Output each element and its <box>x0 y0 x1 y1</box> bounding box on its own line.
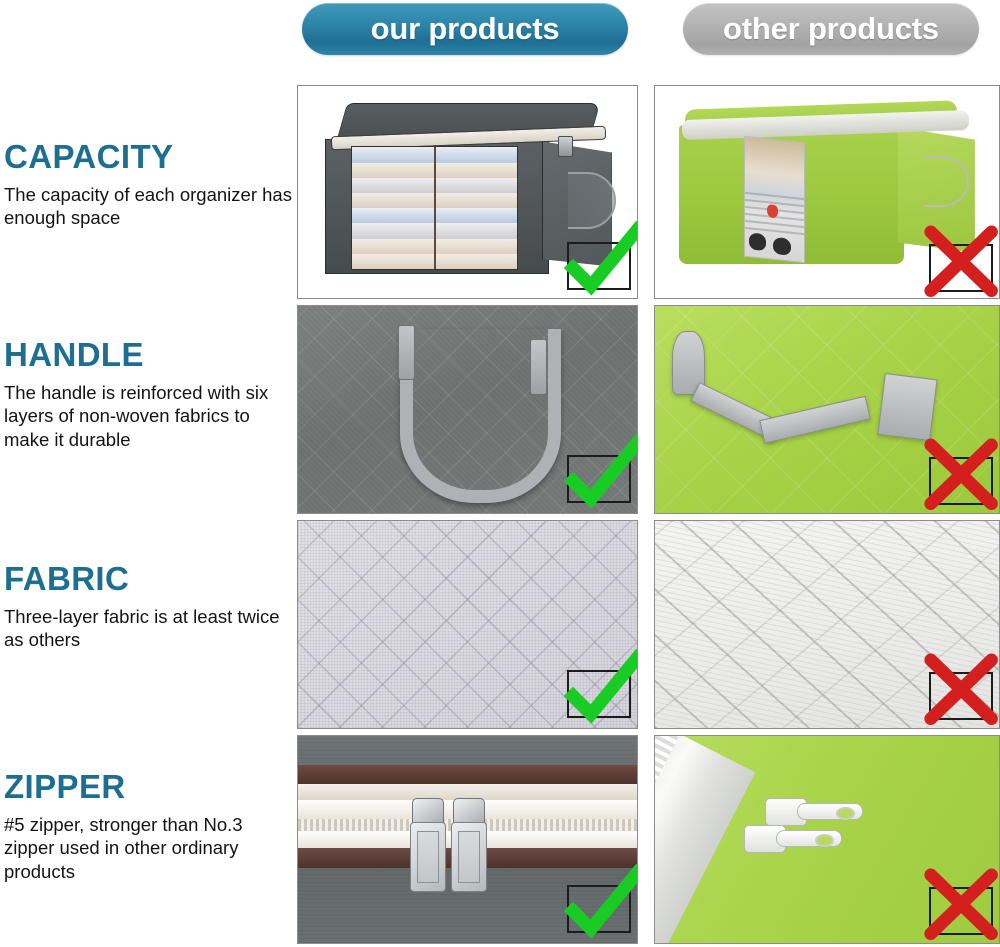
feature-description-fabric: Three-layer fabric is at least twice as … <box>4 605 296 652</box>
organizer-window <box>351 146 518 270</box>
status-badge-check <box>567 242 631 290</box>
header-pill-our-products: our products <box>302 3 628 55</box>
feature-title-capacity: CAPACITY <box>4 140 296 175</box>
feature-description-handle: The handle is reinforced with six layers… <box>4 381 296 452</box>
header-pill-other-products: other products <box>683 3 979 55</box>
green-bag-window <box>744 136 805 263</box>
status-badge-cross <box>929 457 993 505</box>
panel-fabric-others <box>654 520 1000 729</box>
feature-description-capacity: The capacity of each organizer has enoug… <box>4 183 296 230</box>
status-badge-check <box>567 670 631 718</box>
feature-handle-text: HANDLE The handle is reinforced with six… <box>4 338 296 452</box>
metal-zipper-pull <box>410 798 444 890</box>
feature-fabric-text: FABRIC Three-layer fabric is at least tw… <box>4 562 296 652</box>
plastic-zipper-pull <box>765 798 861 828</box>
status-badge-check <box>567 885 631 933</box>
status-badge-check <box>567 455 631 503</box>
header-other-products-label: other products <box>723 11 939 47</box>
feature-title-zipper: ZIPPER <box>4 770 296 805</box>
panel-fabric-ours <box>297 520 638 729</box>
panel-capacity-others <box>654 85 1000 299</box>
panel-capacity-ours <box>297 85 638 299</box>
metal-zipper-pull <box>451 798 485 890</box>
limp-handle-strap <box>672 331 954 480</box>
panel-handle-ours <box>297 305 638 514</box>
feature-zipper-text: ZIPPER #5 zipper, stronger than No.3 zip… <box>4 770 296 884</box>
feature-title-handle: HANDLE <box>4 338 296 373</box>
status-badge-cross <box>929 887 993 935</box>
panel-zipper-ours <box>297 735 638 944</box>
header-our-products-label: our products <box>371 11 560 47</box>
plastic-zipper-pull <box>744 825 840 855</box>
feature-capacity-text: CAPACITY The capacity of each organizer … <box>4 140 296 230</box>
comparison-infographic: our products other products CAPACITY The… <box>0 0 1000 947</box>
panel-handle-others <box>654 305 1000 514</box>
feature-description-zipper: #5 zipper, stronger than No.3 zipper use… <box>4 813 296 884</box>
status-badge-cross <box>929 672 993 720</box>
status-badge-cross <box>929 244 993 292</box>
panel-zipper-others <box>654 735 1000 944</box>
feature-title-fabric: FABRIC <box>4 562 296 597</box>
